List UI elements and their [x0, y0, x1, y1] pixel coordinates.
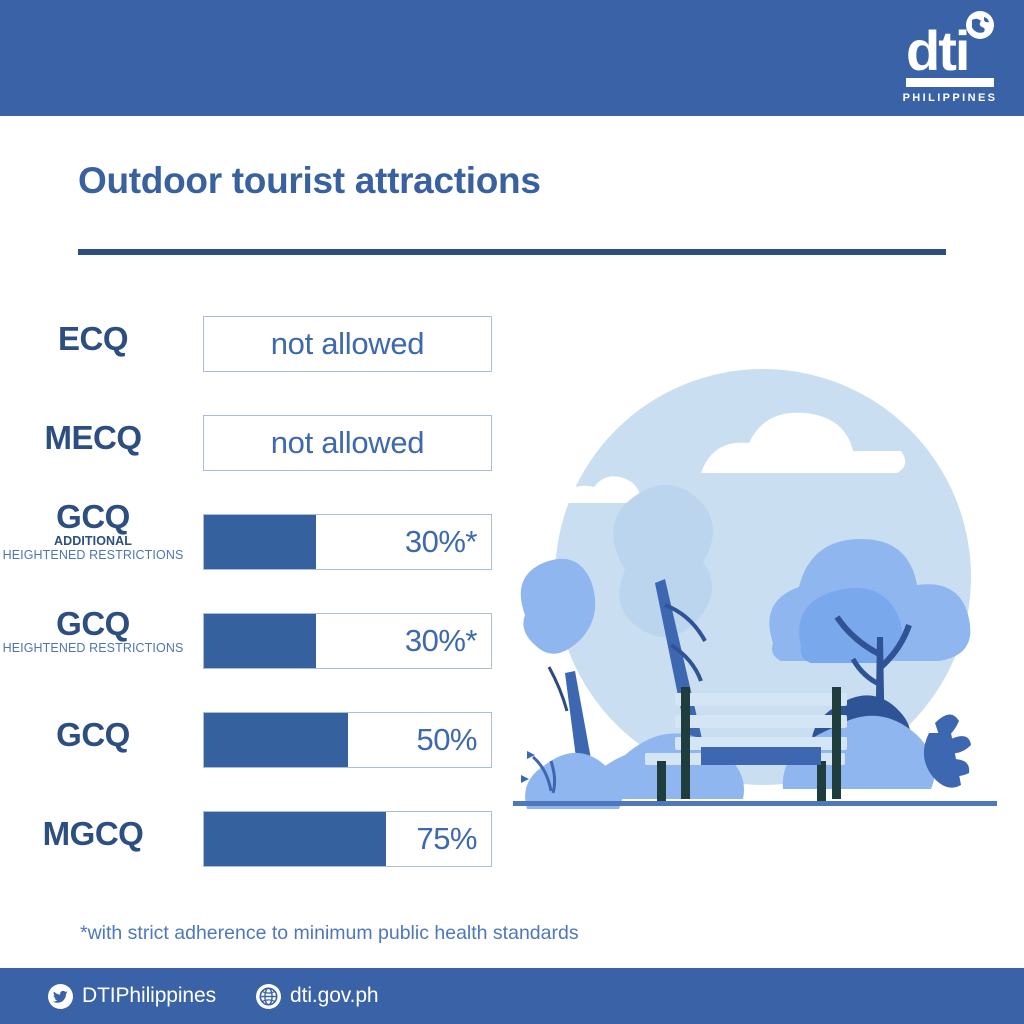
- footer-twitter-label: DTIPhilippines: [82, 984, 216, 1008]
- row-code: ECQ: [0, 322, 186, 356]
- value-label: 30%*: [405, 515, 477, 569]
- bar-fill: [204, 614, 316, 668]
- value-label: 75%: [416, 812, 477, 866]
- row-code: GCQ: [0, 718, 186, 752]
- row-mgcq: MGCQ 75%: [0, 795, 520, 894]
- footnote: *with strict adherence to minimum public…: [80, 922, 579, 945]
- row-label-gcq-additional: GCQ ADDITIONAL HEIGHTENED RESTRICTIONS: [0, 500, 186, 563]
- row-sublabel: HEIGHTENED RESTRICTIONS: [0, 641, 186, 656]
- footer-twitter-handle[interactable]: DTIPhilippines: [48, 968, 216, 1024]
- value-label: 30%*: [405, 614, 477, 668]
- twitter-icon: [48, 984, 73, 1009]
- row-label-mecq: MECQ: [0, 421, 186, 455]
- bar-fill: [204, 515, 316, 569]
- park-bench-illustration: [505, 355, 1005, 815]
- row-code: GCQ: [0, 500, 186, 534]
- value-label: 50%: [416, 713, 477, 767]
- svg-text:dti: dti: [906, 19, 968, 82]
- header-bar: dti PHILIPPINES: [0, 0, 1024, 116]
- row-code: GCQ: [0, 607, 186, 641]
- value-box-mecq: not allowed: [203, 415, 492, 471]
- row-label-mgcq: MGCQ: [0, 817, 186, 851]
- dti-logo: dti PHILIPPINES: [898, 8, 1002, 108]
- value-label: not allowed: [204, 317, 491, 371]
- value-bar-gcq: 50%: [203, 712, 492, 768]
- row-code: MGCQ: [0, 817, 186, 851]
- value-bar-mgcq: 75%: [203, 811, 492, 867]
- footer-bar: DTIPhilippines dti.gov.ph: [0, 968, 1024, 1024]
- row-sublabel-bold: ADDITIONAL: [0, 534, 186, 549]
- footer-website-link[interactable]: dti.gov.ph: [256, 968, 379, 1024]
- row-gcq-heightened-restrictions: GCQ HEIGHTENED RESTRICTIONS 30%*: [0, 597, 520, 696]
- title-divider: [78, 249, 946, 255]
- value-box-ecq: not allowed: [203, 316, 492, 372]
- globe-icon: [256, 984, 281, 1009]
- row-code: MECQ: [0, 421, 186, 455]
- value-bar-gcq-heightened: 30%*: [203, 613, 492, 669]
- svg-text:PHILIPPINES: PHILIPPINES: [903, 92, 998, 104]
- row-gcq-additional-heightened-restrictions: GCQ ADDITIONAL HEIGHTENED RESTRICTIONS 3…: [0, 498, 520, 597]
- page-title: Outdoor tourist attractions: [78, 160, 541, 202]
- row-mecq: MECQ not allowed: [0, 399, 520, 498]
- value-bar-gcq-additional: 30%*: [203, 514, 492, 570]
- restriction-rows: ECQ not allowed MECQ not allowed GCQ ADD…: [0, 300, 520, 894]
- row-label-ecq: ECQ: [0, 322, 186, 356]
- row-sublabel: HEIGHTENED RESTRICTIONS: [0, 548, 186, 563]
- row-gcq: GCQ 50%: [0, 696, 520, 795]
- row-label-gcq: GCQ: [0, 718, 186, 752]
- bar-fill: [204, 713, 348, 767]
- row-label-gcq-heightened: GCQ HEIGHTENED RESTRICTIONS: [0, 607, 186, 655]
- bar-fill: [204, 812, 386, 866]
- footer-website-label: dti.gov.ph: [290, 984, 379, 1008]
- row-ecq: ECQ not allowed: [0, 300, 520, 399]
- value-label: not allowed: [204, 416, 491, 470]
